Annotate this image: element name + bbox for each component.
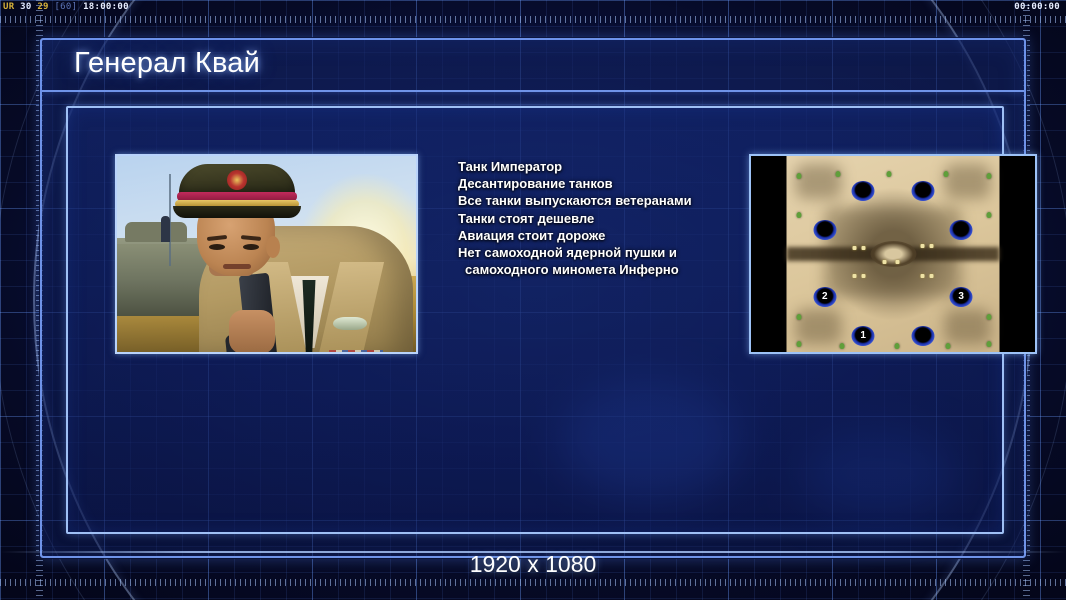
map-preview[interactable]: 231 (749, 154, 1037, 354)
hud-value-2: 29 (37, 2, 48, 12)
title-bar: Генерал Квай (42, 40, 1024, 92)
map-tree-icon (797, 341, 802, 347)
map-tree-icon (835, 171, 840, 177)
hud-tag: UR (3, 2, 14, 12)
map-prop-icon (882, 260, 886, 264)
description-line: Нет самоходной ядерной пушки и (458, 244, 758, 261)
cap-brim (173, 206, 301, 218)
cap-badge-icon (227, 170, 247, 190)
map-tree-icon (986, 212, 991, 218)
general-brow-left (207, 235, 227, 241)
general-brow-right (241, 235, 261, 241)
map-start-position[interactable] (950, 220, 973, 240)
ruler-bottom (0, 579, 1066, 586)
resolution-label: 1920 x 1080 (0, 551, 1066, 578)
map-prop-icon (929, 244, 933, 248)
hud-left-readout: UR 30 29 [60] 18:00:00 (3, 2, 129, 12)
map-tree-icon (886, 171, 891, 177)
map-tree-icon (797, 212, 802, 218)
map-prop-icon (861, 274, 865, 278)
map-start-position[interactable]: 2 (813, 287, 836, 307)
hud-clock: 18:00:00 (83, 2, 129, 12)
description-line: Танк Император (458, 158, 758, 175)
map-tree-icon (986, 314, 991, 320)
map-prop-icon (929, 274, 933, 278)
general-eye-left (209, 244, 225, 250)
general-ear (266, 236, 280, 258)
map-patch-sw (795, 309, 842, 344)
general-hand (229, 310, 275, 354)
uniform-ribbon-bar (329, 350, 383, 354)
map-prop-icon (861, 246, 865, 250)
general-mouth (223, 264, 251, 269)
general-description: Танк ИмператорДесантирование танковВсе т… (458, 158, 758, 278)
hud-value-1: 30 (20, 2, 31, 12)
map-center-feature (870, 241, 916, 267)
map-prop-icon (853, 274, 857, 278)
map-start-position[interactable] (852, 181, 875, 201)
map-prop-icon (921, 274, 925, 278)
map-tree-icon (797, 173, 802, 179)
map-tree-icon (986, 173, 991, 179)
general-cap (175, 164, 299, 216)
uniform-wing-badge (333, 317, 367, 330)
main-frame: Генерал Квай (40, 38, 1026, 558)
map-prop-icon (895, 260, 899, 264)
general-portrait (115, 154, 418, 354)
map-start-position[interactable]: 3 (950, 287, 973, 307)
map-prop-icon (853, 246, 857, 250)
description-line: Авиация стоит дороже (458, 227, 758, 244)
map-patch-ne (944, 164, 991, 199)
game-lobby-screen: UR 30 29 [60] 18:00:00 00:00:00 Генерал … (0, 0, 1066, 600)
map-tree-icon (986, 341, 991, 347)
map-patch-nw (795, 164, 842, 199)
description-line: самоходного миномета Инферно (458, 261, 758, 278)
content-panel: Танк ИмператорДесантирование танковВсе т… (66, 106, 1004, 534)
ruler-top (0, 16, 1066, 23)
map-tree-icon (946, 343, 951, 349)
map-tree-icon (839, 343, 844, 349)
page-title: Генерал Квай (74, 47, 260, 80)
map-terrain: 231 (787, 156, 1000, 352)
description-line: Все танки выпускаются ветеранами (458, 192, 758, 209)
map-patch-se (944, 309, 991, 344)
portrait-figure (161, 216, 170, 242)
map-tree-icon (895, 343, 900, 349)
description-line: Десантирование танков (458, 175, 758, 192)
hud-value-3: [60] (54, 2, 77, 12)
map-start-position[interactable]: 1 (852, 326, 875, 346)
uniform-lapel-right (318, 262, 384, 354)
general-eye-right (243, 244, 259, 250)
map-tree-icon (797, 314, 802, 320)
map-tree-icon (944, 171, 949, 177)
hud-right-clock: 00:00:00 (1014, 2, 1060, 12)
map-start-position[interactable] (911, 181, 934, 201)
map-prop-icon (921, 244, 925, 248)
map-start-position[interactable] (911, 326, 934, 346)
description-line: Танки стоят дешевле (458, 210, 758, 227)
